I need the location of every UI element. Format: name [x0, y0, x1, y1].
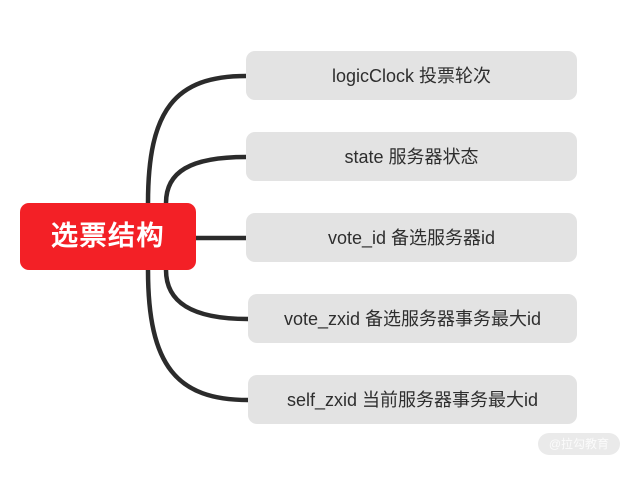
watermark-label: @拉勾教育 — [549, 438, 609, 450]
connector-to-leaf-4 — [166, 270, 248, 319]
connector-to-leaf-1 — [148, 76, 246, 203]
leaf-node-state[interactable]: state 服务器状态 — [246, 132, 577, 181]
leaf-node-label: self_zxid 当前服务器事务最大id — [287, 391, 538, 409]
leaf-node-label: logicClock 投票轮次 — [332, 67, 491, 85]
leaf-node-vote-zxid[interactable]: vote_zxid 备选服务器事务最大id — [248, 294, 577, 343]
leaf-node-logic-clock[interactable]: logicClock 投票轮次 — [246, 51, 577, 100]
root-node-label: 选票结构 — [51, 223, 165, 250]
leaf-node-vote-id[interactable]: vote_id 备选服务器id — [246, 213, 577, 262]
leaf-node-self-zxid[interactable]: self_zxid 当前服务器事务最大id — [248, 375, 577, 424]
connector-to-leaf-2 — [166, 157, 246, 203]
leaf-node-label: state 服务器状态 — [344, 148, 478, 166]
leaf-node-label: vote_zxid 备选服务器事务最大id — [284, 310, 541, 328]
watermark-badge: @拉勾教育 — [538, 433, 620, 455]
leaf-node-label: vote_id 备选服务器id — [328, 229, 495, 247]
root-node[interactable]: 选票结构 — [20, 203, 196, 270]
connector-to-leaf-5 — [148, 270, 248, 400]
mindmap-canvas: 选票结构 logicClock 投票轮次 state 服务器状态 vote_id… — [0, 0, 642, 477]
